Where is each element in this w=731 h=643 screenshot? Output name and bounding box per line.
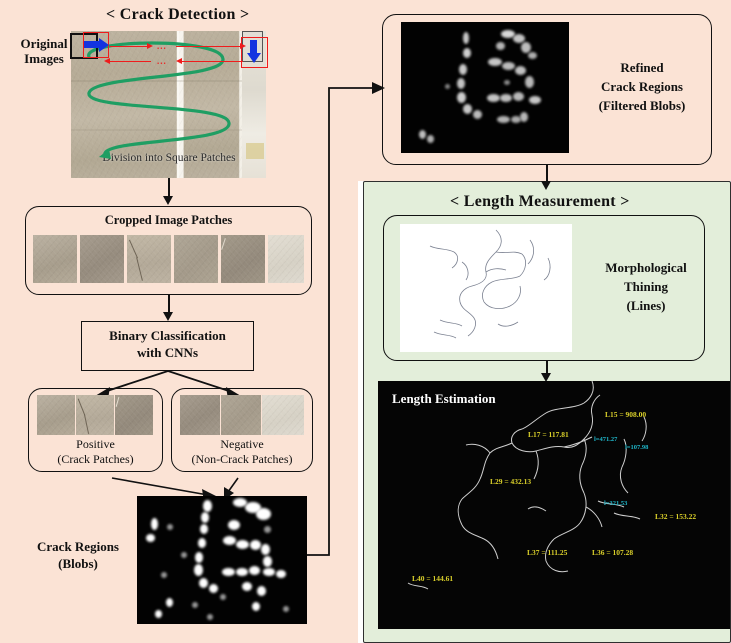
scan-arrow-row2-seg1 <box>109 61 151 62</box>
crack-regions-label-line2: (Blobs) <box>22 555 134 572</box>
scan-arrow-row1-head2 <box>240 43 246 49</box>
length-label-L17: L17 = 117.81 <box>528 430 569 439</box>
binary-classification-line2: with CNNs <box>81 344 254 361</box>
length-label-L40: L40 = 144.61 <box>412 574 453 583</box>
scan-direction-end-arrow <box>250 40 257 54</box>
negative-label-line2: (Non-Crack Patches) <box>171 452 313 467</box>
negative-patch-3 <box>262 395 304 435</box>
positive-label: Positive (Crack Patches) <box>28 437 163 467</box>
arrow-photo-to-patches-head <box>163 196 173 205</box>
length-label-L32: L32 = 153.22 <box>655 512 696 521</box>
refined-label-line2: Crack Regions <box>578 77 706 96</box>
scan-arrow-row2-seg2 <box>181 61 243 62</box>
crack-regions-label: Crack Regions (Blobs) <box>22 538 134 572</box>
original-images-label: Original Images <box>10 36 78 66</box>
scan-direction-start-arrowhead <box>99 38 109 52</box>
length-label-l471: l=471.27 <box>594 436 617 443</box>
refined-label-line1: Refined <box>578 58 706 77</box>
thinning-label-line3: (Lines) <box>590 296 702 315</box>
arrow-refined-to-measurement-head <box>541 181 551 190</box>
positive-label-line2: (Crack Patches) <box>28 452 163 467</box>
cropped-patches-title: Cropped Image Patches <box>25 213 312 228</box>
length-estimation-skeleton <box>378 381 730 629</box>
length-measurement-title: < Length Measurement > <box>450 193 630 211</box>
cropped-patch-6 <box>268 235 304 283</box>
refined-label-line3: (Filtered Blobs) <box>578 96 706 115</box>
scan-arrow-row1-seg2 <box>176 46 244 47</box>
thinning-label-line2: Thining <box>590 277 702 296</box>
division-caption: Division into Square Patches <box>83 152 255 164</box>
positive-patch-2 <box>76 395 114 435</box>
crack-regions-blob-image <box>137 496 307 624</box>
scan-direction-start-arrow <box>84 41 100 48</box>
scan-arrow-row1-head1 <box>147 43 153 49</box>
negative-label-line1: Negative <box>171 437 313 452</box>
refined-crack-regions-image <box>401 22 569 153</box>
cropped-patch-3 <box>127 235 171 283</box>
positive-patch-1 <box>37 395 75 435</box>
scan-ellipsis-row2: ... <box>157 57 167 66</box>
original-images-label-line2: Images <box>10 51 78 66</box>
length-label-L36: L36 = 107.28 <box>592 548 633 557</box>
cropped-patch-2 <box>80 235 124 283</box>
negative-label: Negative (Non-Crack Patches) <box>171 437 313 467</box>
cropped-patch-4 <box>174 235 218 283</box>
morphological-thinning-image <box>400 224 572 352</box>
cropped-patch-1 <box>33 235 77 283</box>
original-images-label-line1: Original <box>10 36 78 51</box>
length-label-L29: L29 = 432.13 <box>490 477 531 486</box>
arrow-patches-to-classifier-head <box>163 312 173 321</box>
crack-detection-title: < Crack Detection > <box>106 6 249 24</box>
thinning-label-line1: Morphological <box>590 258 702 277</box>
cropped-patch-5 <box>221 235 265 283</box>
scan-arrow-row1-seg1 <box>110 46 148 47</box>
positive-label-line1: Positive <box>28 437 163 452</box>
positive-patch-3 <box>115 395 153 435</box>
morphological-thinning-label: Morphological Thining (Lines) <box>590 258 702 315</box>
scan-ellipsis-row1: ... <box>157 42 167 51</box>
negative-patch-1 <box>180 395 220 435</box>
length-estimation-image: Length Estimation <box>378 381 730 629</box>
crack-regions-label-line1: Crack Regions <box>22 538 134 555</box>
scan-direction-end-arrowhead <box>247 53 261 63</box>
thinned-crack-lines <box>400 224 572 352</box>
length-estimation-title: Length Estimation <box>392 391 496 407</box>
refined-crack-regions-label: Refined Crack Regions (Filtered Blobs) <box>578 58 706 115</box>
length-label-L37: L37 = 111.25 <box>527 548 567 557</box>
arrow-photo-to-patches-line <box>168 178 170 198</box>
figure-root: < Crack Detection > < Length Measurement… <box>0 0 731 643</box>
length-label-l321: l=321.53 <box>604 500 627 507</box>
binary-classification-label: Binary Classification with CNNs <box>81 327 254 361</box>
binary-classification-line1: Binary Classification <box>81 327 254 344</box>
length-label-l107: l=107.98 <box>625 444 648 451</box>
negative-patch-2 <box>221 395 261 435</box>
length-label-L15: L15 = 908.00 <box>605 410 646 419</box>
